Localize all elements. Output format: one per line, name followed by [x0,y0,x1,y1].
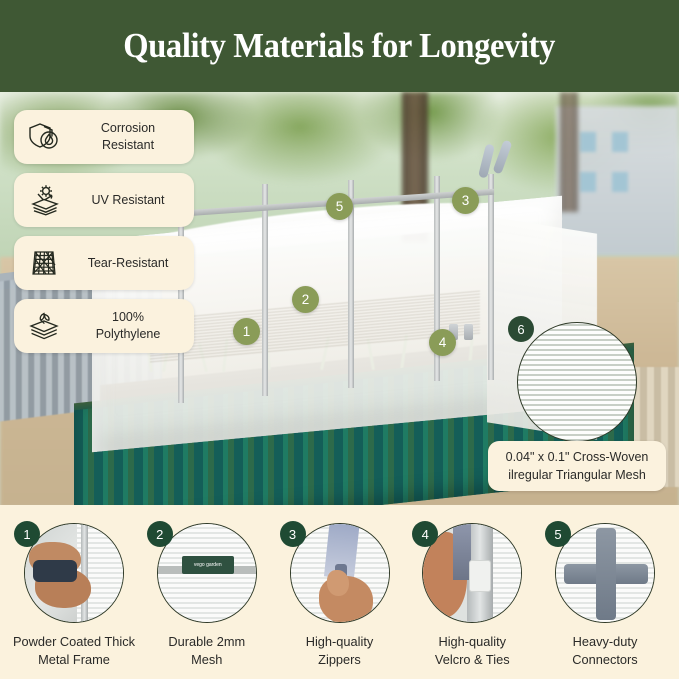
feature-chip-label: Corrosion Resistant [72,120,184,154]
label-line-2: Mesh [191,652,222,667]
callout-marker-6[interactable]: 6 [508,316,534,342]
badge-number: 1 [23,527,30,542]
callout-marker-5[interactable]: 5 [326,193,353,220]
chip-line-1: Corrosion [101,121,155,135]
label-line-1: High-quality [306,634,374,649]
marker-number: 4 [439,335,447,350]
label-line-2: Connectors [572,652,637,667]
thumbnail-item-zippers[interactable]: High-quality Zippers 3 [274,523,406,669]
infographic-page: Quality Materials for Longevity [0,0,679,679]
brand-tag-text: vego garden [194,562,222,568]
mesh-caption-line-2: ilregular Triangular Mesh [508,468,646,482]
thumbnail-badge-2: 2 [147,521,173,547]
thumbnail-label: High-quality Velcro & Ties [435,633,510,669]
thumbnail-item-connectors[interactable]: Heavy-duty Connectors 5 [539,523,671,669]
label-line-2: Zippers [318,652,361,667]
sun-layers-icon [24,181,64,219]
label-line-1: High-quality [438,634,506,649]
thumbnail-label: Powder Coated Thick Metal Frame [13,633,135,669]
page-title: Quality Materials for Longevity [124,26,556,66]
feature-chip-tear-resistant[interactable]: Tear-Resistant [14,236,194,290]
label-line-1: Heavy-duty [573,634,638,649]
feature-chip-label: Tear-Resistant [72,255,184,272]
tree-trunk [560,92,578,212]
feature-chip-label: UV Resistant [72,192,184,209]
mesh-net-icon [24,244,64,282]
chip-line-2: Resistant [102,138,154,152]
feature-chip-corrosion-resistant[interactable]: Corrosion Resistant [14,110,194,164]
chip-line-1: 100% [112,310,144,324]
label-line-1: Powder Coated Thick [13,634,135,649]
thumbnail-item-metal-frame[interactable]: Powder Coated Thick Metal Frame 1 [8,523,140,669]
callout-marker-3[interactable]: 3 [452,187,479,214]
header-banner: Quality Materials for Longevity [0,0,679,92]
feature-chip-uv-resistant[interactable]: UV Resistant [14,173,194,227]
badge-number: 2 [156,527,163,542]
chip-line-2: Polythylene [96,327,161,341]
window-decor [612,132,628,152]
window-decor [612,172,628,192]
thumbnail-label: High-quality Zippers [306,633,374,669]
feature-thumbnail-strip: Powder Coated Thick Metal Frame 1 vego g… [0,505,679,679]
window-decor [580,172,596,192]
brand-tag: vego garden [182,556,234,574]
velcro-tab [464,324,473,340]
thumbnail-badge-5: 5 [545,521,571,547]
layers-leaf-icon [24,307,64,345]
window-decor [580,132,596,152]
shield-droplet-icon [24,118,64,156]
thumbnail-item-velcro[interactable]: High-quality Velcro & Ties 4 [406,523,538,669]
badge-number: 3 [289,527,296,542]
frame-pole [488,174,494,380]
badge-number: 5 [554,527,561,542]
thumbnail-label: Durable 2mm Mesh [168,633,245,669]
label-line-1: Durable 2mm [168,634,245,649]
marker-number: 5 [336,199,344,214]
mesh-zoom-circle [517,322,637,442]
callout-marker-4[interactable]: 4 [429,329,456,356]
marker-number: 3 [462,193,470,208]
product-photo: Corrosion Resistant UV Resi [0,92,679,505]
feature-chip-label: 100% Polythylene [72,309,184,343]
thumbnail-label: Heavy-duty Connectors [572,633,637,669]
thumbnail-badge-3: 3 [280,521,306,547]
label-line-2: Velcro & Ties [435,652,510,667]
marker-number: 6 [517,322,524,337]
marker-number: 2 [302,292,310,307]
label-line-2: Metal Frame [38,652,110,667]
feature-chip-list: Corrosion Resistant UV Resi [14,110,194,362]
marker-number: 1 [243,324,251,339]
mesh-caption: 0.04" x 0.1" Cross-Woven ilregular Trian… [488,441,666,491]
feature-chip-polyethylene[interactable]: 100% Polythylene [14,299,194,353]
callout-marker-1[interactable]: 1 [233,318,260,345]
badge-number: 4 [422,527,429,542]
callout-marker-2[interactable]: 2 [292,286,319,313]
mesh-caption-line-1: 0.04" x 0.1" Cross-Woven [506,450,649,464]
frame-pole [262,184,268,396]
thumbnail-item-mesh[interactable]: vego garden Durable 2mm Mesh 2 [141,523,273,669]
thumbnail-badge-1: 1 [14,521,40,547]
